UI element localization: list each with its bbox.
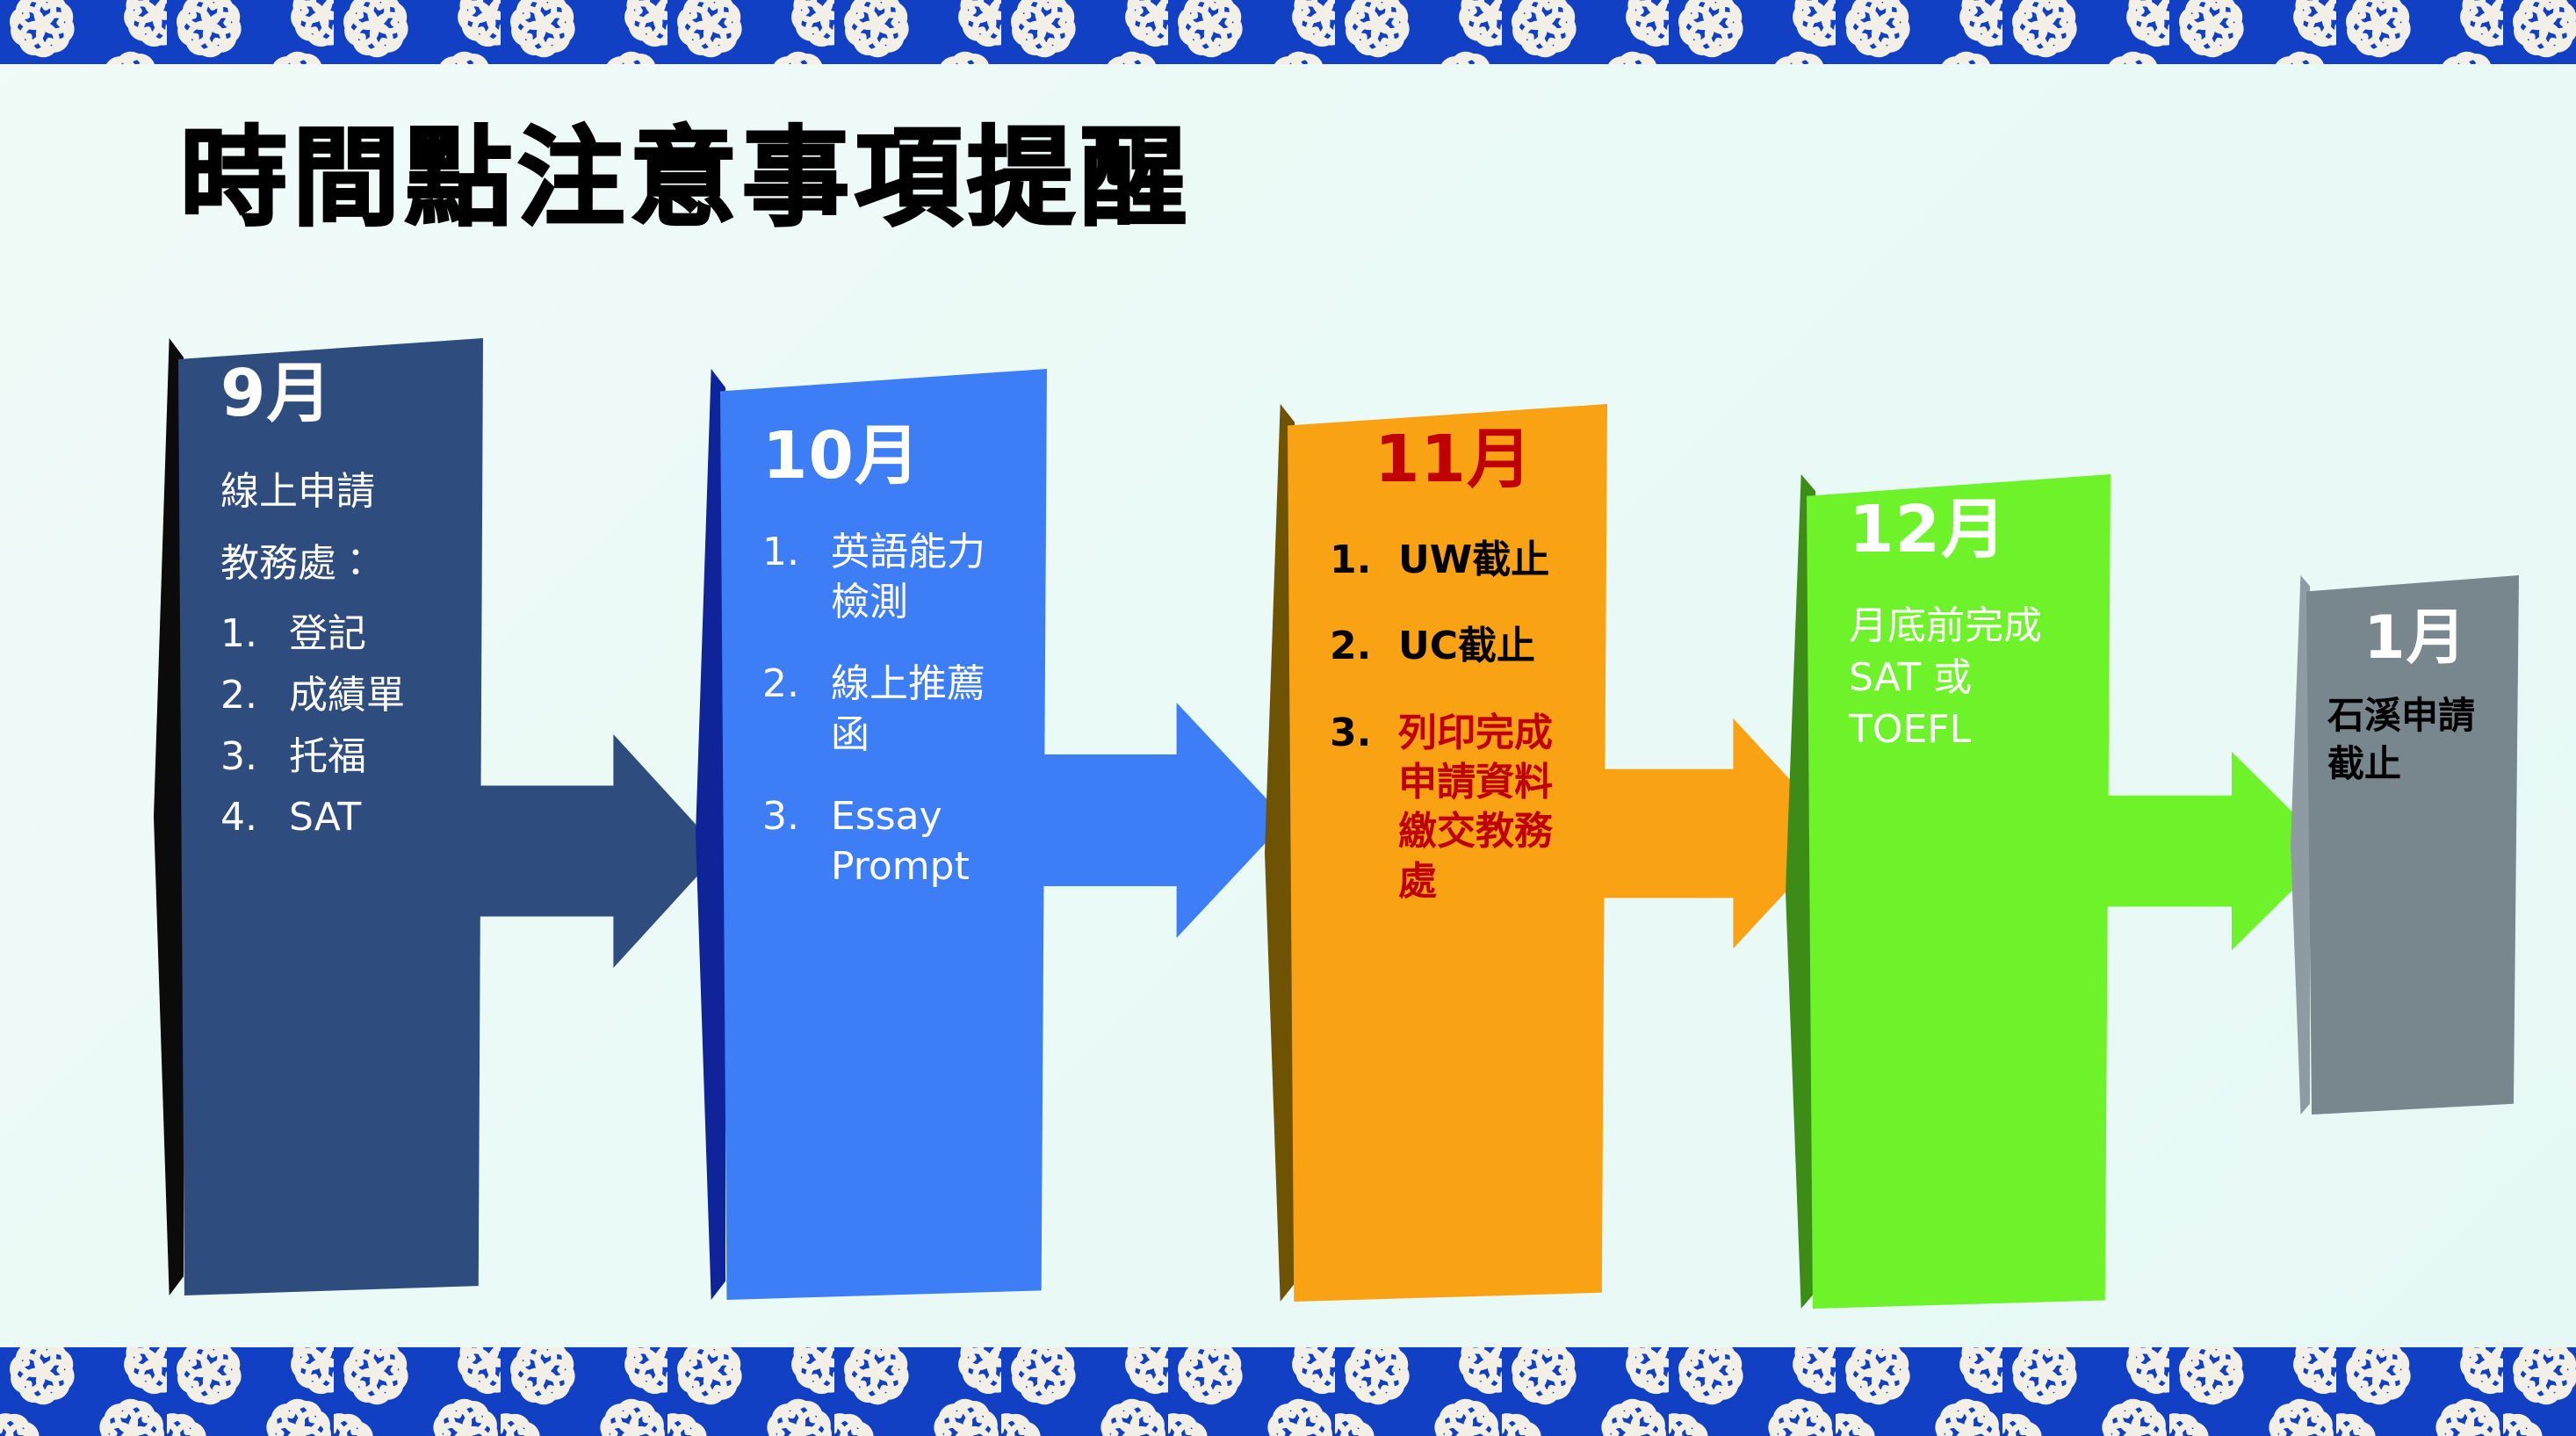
step-spine-january <box>2291 575 2310 1115</box>
list-item-number: 1. <box>220 606 289 662</box>
list-item-number: 3. <box>762 791 831 841</box>
step-item-list-november: 1. UW截止 2. UC截止 3. 列印完成申請資料繳交教務處 <box>1330 536 1577 906</box>
timeline-flow: 9月 線上申請 教務處： 1. 登記 2. 成績單 3. <box>0 0 2576 1436</box>
step-card-january: 1月 石溪申請截止 <box>2306 575 2519 1115</box>
list-item: 2. UC截止 <box>1330 622 1577 671</box>
month-label-november: 11月 <box>1330 427 1577 492</box>
month-label-december: 12月 <box>1849 497 2081 562</box>
timeline-step-october[interactable]: 10月 1. 英語能力檢測 2. 線上推薦函 3. Essay Prompt <box>696 369 1047 1300</box>
sakura-border-bottom <box>0 1347 2576 1436</box>
timeline-step-november[interactable]: 11月 1. UW截止 2. UC截止 3. 列印完成申請資料繳交教務處 <box>1265 404 1607 1302</box>
step-card-december: 12月 月底前完成SAT 或 TOEFL <box>1807 474 2111 1309</box>
step-item-list-october: 1. 英語能力檢測 2. 線上推薦函 3. Essay Prompt <box>762 527 1017 891</box>
timeline-step-january[interactable]: 1月 石溪申請截止 <box>2291 575 2519 1115</box>
step-card-september: 9月 線上申請 教務處： 1. 登記 2. 成績單 3. <box>178 338 483 1295</box>
step-subhead-september: 教務處： <box>220 537 453 591</box>
list-item-text: 線上推薦函 <box>831 659 1017 759</box>
month-label-september: 9月 <box>220 361 453 426</box>
list-item-number: 3. <box>1330 709 1398 758</box>
timeline-step-december[interactable]: 12月 月底前完成SAT 或 TOEFL <box>1786 474 2111 1309</box>
step-spine-october <box>696 369 725 1300</box>
slide-canvas: 時間點注意事項提醒 9月 線上申請 教務處： 1. 登記 2. <box>0 0 2576 1436</box>
list-item-text: 英語能力檢測 <box>831 527 1017 627</box>
timeline-step-september[interactable]: 9月 線上申請 教務處： 1. 登記 2. 成績單 3. <box>154 338 483 1295</box>
list-item: 2. 線上推薦函 <box>762 659 1017 759</box>
list-item-text: 列印完成申請資料繳交教務處 <box>1398 709 1577 906</box>
list-item-text: 成績單 <box>289 667 453 724</box>
list-item-text: 托福 <box>289 729 453 785</box>
list-item: 4. SAT <box>220 790 453 846</box>
step-spine-september <box>154 338 184 1295</box>
step-item-list-september: 1. 登記 2. 成績單 3. 托福 4. SA <box>220 606 453 846</box>
list-item-number: 2. <box>220 667 289 724</box>
list-item-number: 4. <box>220 790 289 846</box>
list-item: 1. 登記 <box>220 606 453 662</box>
list-item-text: SAT <box>289 790 453 846</box>
step-lede-january: 石溪申請截止 <box>2327 691 2503 789</box>
list-item-text: UW截止 <box>1398 536 1577 585</box>
list-item-number: 2. <box>1330 622 1398 671</box>
list-item: 1. 英語能力檢測 <box>762 527 1017 627</box>
list-item-number: 1. <box>1330 536 1398 585</box>
list-item: 3. 托福 <box>220 729 453 785</box>
list-item-text: Essay Prompt <box>831 791 1017 891</box>
month-label-january: 1月 <box>2327 609 2503 668</box>
list-item-text: 登記 <box>289 606 453 662</box>
list-item-number: 2. <box>762 659 831 709</box>
list-item-text: UC截止 <box>1398 622 1577 671</box>
list-item-number: 1. <box>762 527 831 577</box>
list-item: 3. Essay Prompt <box>762 791 1017 891</box>
list-item-number: 3. <box>220 729 289 785</box>
list-item: 3. 列印完成申請資料繳交教務處 <box>1330 709 1577 906</box>
step-lede-december: 月底前完成SAT 或 TOEFL <box>1849 601 2081 756</box>
month-label-october: 10月 <box>762 423 1017 488</box>
list-item: 1. UW截止 <box>1330 536 1577 585</box>
list-item: 2. 成績單 <box>220 667 453 724</box>
step-lede-september: 線上申請 <box>220 465 453 519</box>
